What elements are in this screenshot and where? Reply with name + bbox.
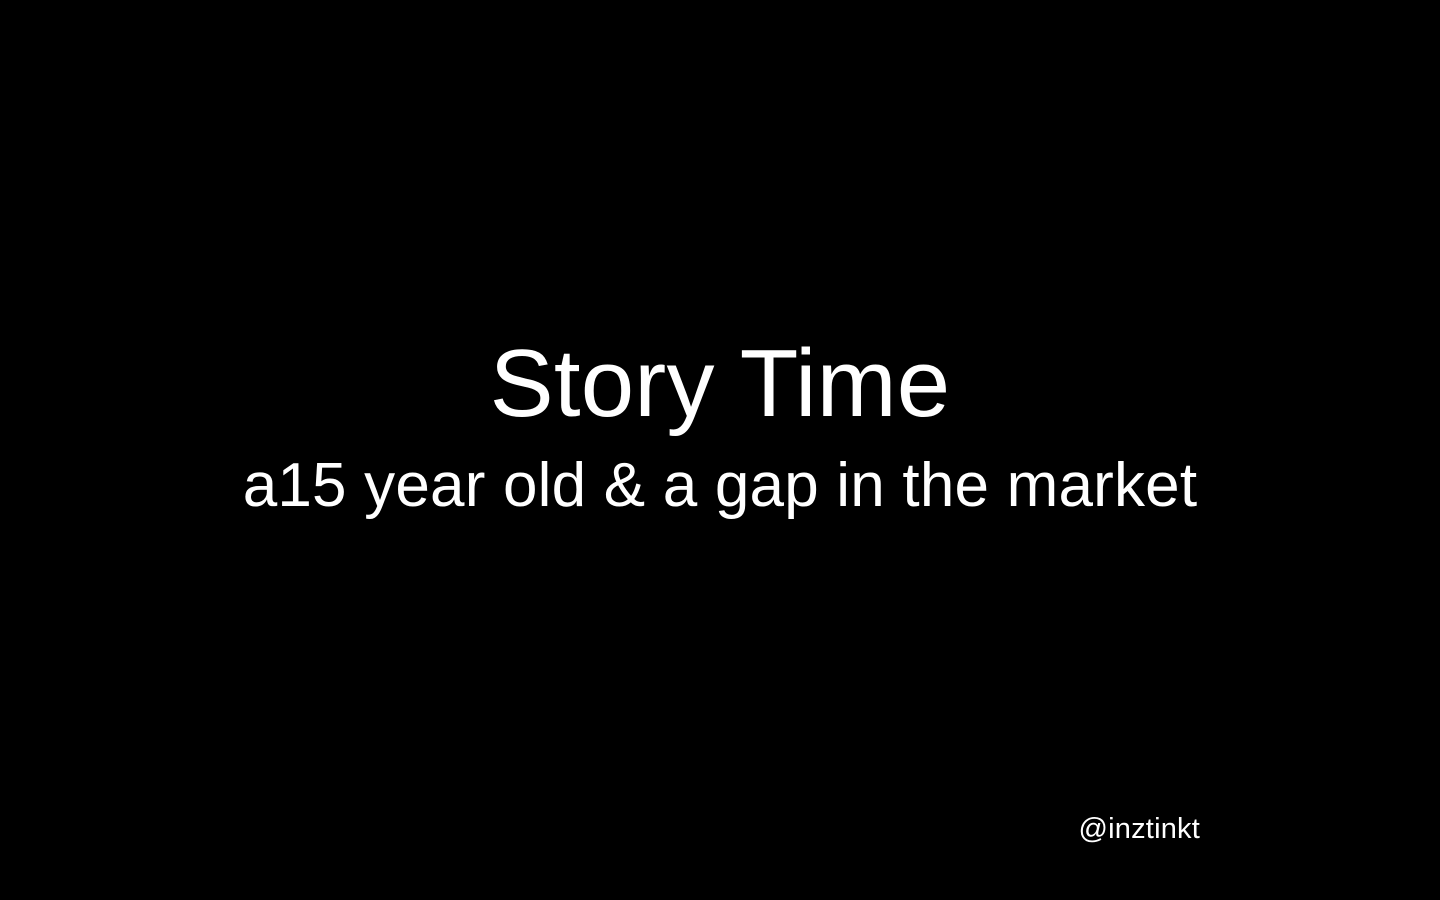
slide-heading-block: Story Time a15 year old & a gap in the m… [0, 330, 1440, 521]
slide-subtitle: a15 year old & a gap in the market [0, 450, 1440, 521]
author-handle: @inztinkt [1079, 812, 1201, 847]
page-title: Story Time [0, 330, 1440, 438]
presentation-slide: Story Time a15 year old & a gap in the m… [0, 0, 1440, 900]
